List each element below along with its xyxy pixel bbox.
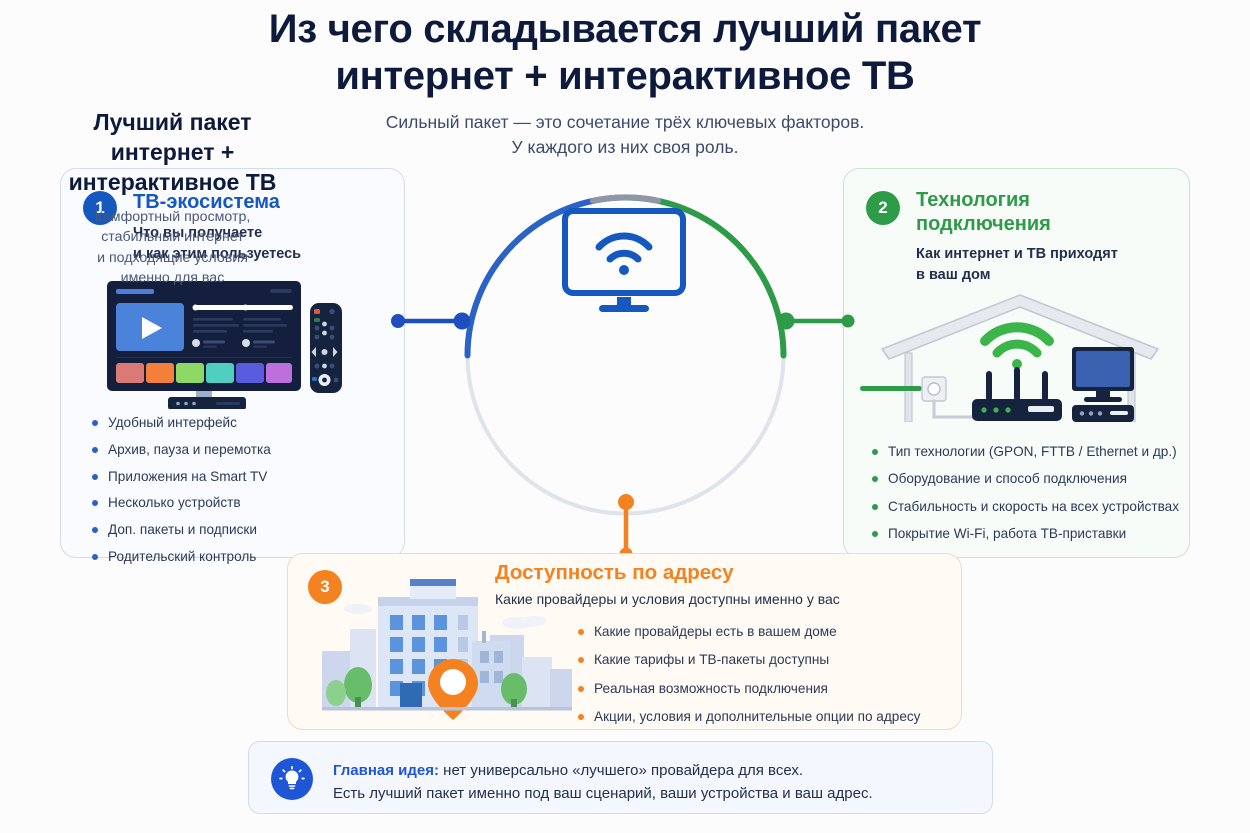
list-item: Покрытие Wi-Fi, работа ТВ-приставки <box>870 526 1179 542</box>
list-item: Оборудование и способ подключения <box>870 471 1179 487</box>
card-2-bullet-list: Тип технологии (GPON, FTTB / Ethernet и … <box>870 444 1179 553</box>
card-3-heading: Доступность по адресу Какие провайдеры и… <box>495 561 840 607</box>
card-2-title: Технология подключения <box>916 189 1176 236</box>
card-2-subtitle: Как интернет и ТВ приходят в ваш дом <box>916 244 1176 286</box>
card-3-bullet-list: Какие провайдеры есть в вашем доме Какие… <box>576 624 920 737</box>
key-idea-line1: Главная идея: нет универсально «лучшего»… <box>333 759 973 782</box>
connector-left-blue <box>390 308 470 334</box>
house-router-tv-illustration <box>860 285 1180 422</box>
list-item: Какие провайдеры есть в вашем доме <box>576 624 920 640</box>
list-item: Приложения на Smart TV <box>90 469 271 485</box>
card-2-subtitle-line2: в ваш дом <box>916 265 1176 286</box>
card-1-bullet-list: Удобный интерфейс Архив, пауза и перемот… <box>90 415 271 576</box>
card-2-subtitle-line1: Как интернет и ТВ приходят <box>916 244 1176 265</box>
list-item: Родительский контроль <box>90 549 271 565</box>
key-idea-line1-rest: нет универсально «лучшего» провайдера дл… <box>439 762 803 779</box>
key-idea-line2: Есть лучший пакет именно под ваш сценари… <box>333 782 973 805</box>
center-title-line1: Лучший пакет <box>69 108 277 138</box>
center-title-line3: интерактивное ТВ <box>69 168 277 198</box>
connector-right-green <box>778 308 858 334</box>
tv-wifi-icon <box>565 211 683 312</box>
key-idea-text: Главная идея: нет универсально «лучшего»… <box>333 759 973 806</box>
center-hub-ring <box>453 183 798 528</box>
center-subtitle-line2: стабильный интернет <box>95 227 251 248</box>
list-item: Доп. пакеты и подписки <box>90 522 271 538</box>
list-item: Архив, пауза и перемотка <box>90 442 271 458</box>
center-hub-text: Лучший пакет интернет + интерактивное ТВ… <box>0 0 345 345</box>
lightbulb-icon <box>271 758 313 800</box>
card-2-title-line2: подключения <box>916 213 1176 237</box>
card-2-number-badge: 2 <box>866 191 900 225</box>
list-item: Удобный интерфейс <box>90 415 271 431</box>
center-title: Лучший пакет интернет + интерактивное ТВ <box>69 108 277 198</box>
card-2-title-line1: Технология <box>916 189 1176 213</box>
list-item: Какие тарифы и ТВ-пакеты доступны <box>576 652 920 668</box>
list-item: Тип технологии (GPON, FTTB / Ethernet и … <box>870 444 1179 460</box>
list-item: Реальная возможность подключения <box>576 681 920 697</box>
card-3-subtitle: Какие провайдеры и условия доступны имен… <box>495 591 840 607</box>
list-item: Акции, условия и дополнительные опции по… <box>576 709 920 725</box>
card-2-heading: Технология подключения Как интернет и ТВ… <box>916 189 1176 286</box>
key-idea-callout: Главная идея: нет универсально «лучшего»… <box>248 741 993 814</box>
list-item: Стабильность и скорость на всех устройст… <box>870 499 1179 515</box>
center-subtitle-line1: Комфортный просмотр, <box>95 207 251 228</box>
list-item: Несколько устройств <box>90 495 271 511</box>
key-idea-label: Главная идея: <box>333 762 439 779</box>
connector-bottom-orange <box>613 492 639 562</box>
center-subtitle: Комфортный просмотр, стабильный интернет… <box>95 207 251 289</box>
card-3-title: Доступность по адресу <box>495 561 840 585</box>
center-subtitle-line3: и подходящие условия <box>95 248 251 269</box>
center-subtitle-line4: именно для вас <box>95 268 251 289</box>
center-title-line2: интернет + <box>69 138 277 168</box>
